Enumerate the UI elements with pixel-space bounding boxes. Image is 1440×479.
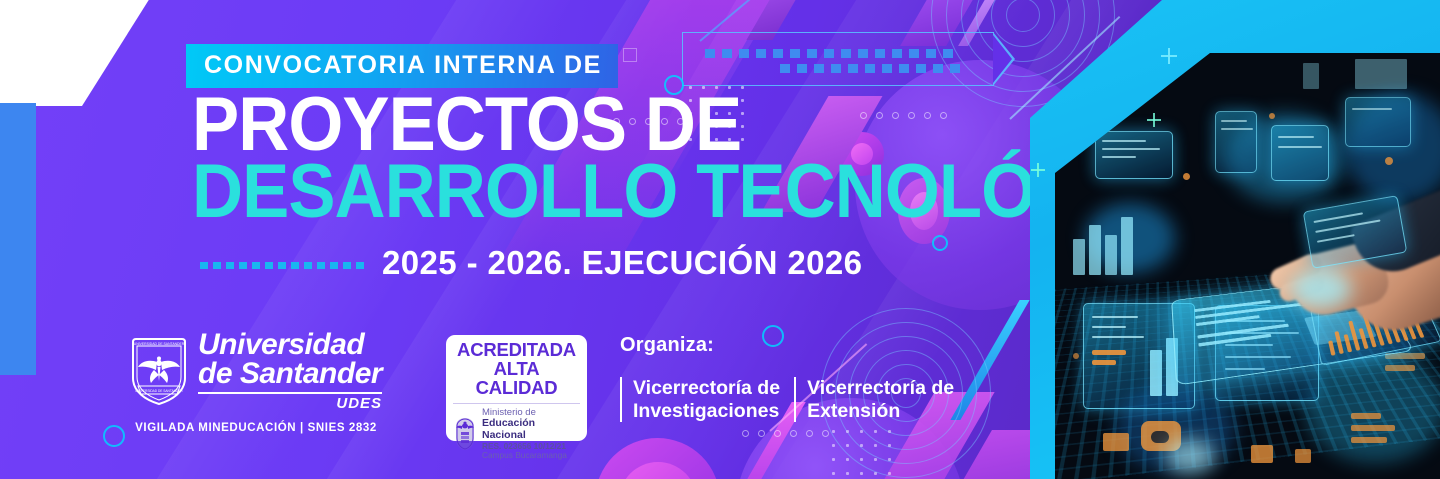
convocatoria-banner: CONVOCATORIA INTERNA DE PROYECTOS DE DES…	[0, 0, 1440, 479]
organizer-item: Vicerrectoría de Investigaciones	[620, 377, 780, 422]
orange-light	[1073, 353, 1079, 359]
orange-light	[1269, 113, 1275, 119]
organizer-line-2: Extensión	[807, 400, 954, 423]
bottom-glow	[1165, 439, 1215, 473]
cyan-ring	[103, 425, 125, 447]
colombia-coat-of-arms-icon	[453, 417, 477, 451]
left-blue-bar	[0, 103, 36, 375]
magenta-disc-bottom	[595, 438, 720, 479]
cross-marker-frame	[1161, 48, 1177, 64]
accreditation-line-2: ALTA CALIDAD	[453, 360, 580, 398]
dashed-lead-line	[200, 262, 364, 269]
concentric-arcs-topright	[1022, 14, 1023, 15]
holo-screen	[1345, 97, 1411, 147]
holo-bar	[1355, 59, 1407, 89]
organizer-line-1: Vicerrectoría de	[633, 377, 780, 400]
orange-light	[1183, 173, 1190, 180]
ministry-line-2: Educación Nacional	[482, 418, 580, 442]
holo-screen	[1271, 125, 1329, 181]
shield-condor-icon: UNIVERSIDAD DE SANTANDER UNIVERSIDAD DE …	[130, 336, 188, 406]
holo-screen	[1215, 111, 1257, 173]
university-name-line-2: de Santander	[198, 359, 382, 388]
cross-marker-frame	[1031, 163, 1045, 177]
holo-screen	[1095, 131, 1173, 179]
legal-text: VIGILADA MINEDUCACIÓN | SNIES 2832	[130, 422, 382, 434]
circle-row	[742, 430, 829, 437]
cross-marker	[1147, 113, 1161, 127]
arrow-outline-box	[682, 32, 994, 86]
university-acronym: UDES	[198, 395, 382, 412]
touch-glow	[1291, 269, 1351, 309]
square-dash-row	[780, 64, 960, 73]
hollow-square	[623, 48, 637, 62]
magenta-disc-inner	[619, 462, 697, 479]
kicker-text: CONVOCATORIA INTERNA DE	[204, 53, 602, 78]
organizers-label: Organiza:	[620, 334, 968, 357]
organizer-item: Vicerrectoría de Extensión	[794, 377, 954, 422]
university-name-line-1: Universidad	[198, 330, 382, 359]
organizer-line-2: Investigaciones	[633, 400, 780, 423]
date-text: 2025 - 2026. EJECUCIÓN 2026	[382, 244, 862, 282]
svg-text:UNIVERSIDAD DE SANTANDER: UNIVERSIDAD DE SANTANDER	[134, 342, 185, 346]
campus-text: Campus Bucaramanga	[482, 451, 580, 460]
svg-text:UNIVERSIDAD DE SANTANDER: UNIVERSIDAD DE SANTANDER	[135, 389, 183, 393]
cyan-ring	[932, 235, 948, 251]
accreditation-badge: ACREDITADA ALTA CALIDAD Ministerio de Ed…	[446, 335, 587, 441]
udes-logo-block: UNIVERSIDAD DE SANTANDER UNIVERSIDAD DE …	[130, 330, 382, 434]
holo-bar	[1303, 63, 1319, 89]
organizer-line-1: Vicerrectoría de	[807, 377, 954, 400]
date-row: 2025 - 2026. EJECUCIÓN 2026	[200, 244, 862, 282]
orange-light	[1385, 157, 1393, 165]
dot-grid	[832, 430, 902, 479]
square-dash-row	[705, 49, 953, 58]
organizers-block: Organiza: Vicerrectoría de Investigacion…	[620, 334, 968, 422]
white-corner-shape	[0, 0, 150, 106]
glow-blob	[1305, 353, 1440, 463]
logo-divider	[198, 392, 382, 394]
